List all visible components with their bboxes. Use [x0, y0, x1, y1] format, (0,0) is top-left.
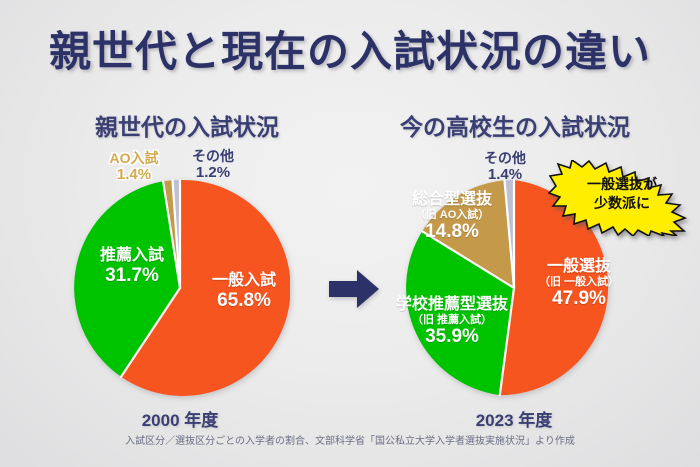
arrow-right-icon [327, 268, 381, 310]
right-panel-heading: 今の高校生の入試状況 [350, 108, 680, 142]
left-label-ao-pct: 1.4% [92, 166, 176, 183]
left-panel-heading: 親世代の入試状況 [22, 108, 352, 142]
left-label-ao-name: AO入試 [92, 150, 176, 166]
starburst-badge [548, 160, 696, 236]
source-footnote: 入試区分／選抜区分ごとの入学者の割合、文部科学省「国公私立大学入学者選抜実施状況… [0, 432, 700, 447]
right-label-other: その他 1.4% [470, 150, 540, 183]
left-label-ao: AO入試 1.4% [92, 150, 176, 183]
left-label-other: その他 1.2% [178, 148, 248, 181]
right-label-other-pct: 1.4% [470, 166, 540, 183]
left-pie-chart [70, 178, 290, 398]
infographic-canvas: 親世代と現在の入試状況の違い 親世代の入試状況 [0, 0, 700, 467]
left-label-other-pct: 1.2% [178, 164, 248, 181]
right-year-caption: 2023 年度 [384, 406, 644, 431]
left-pie-graphic [70, 178, 290, 398]
right-label-other-name: その他 [470, 150, 540, 166]
left-label-other-name: その他 [178, 148, 248, 164]
page-title: 親世代と現在の入試状況の違い [0, 18, 700, 79]
left-year-caption: 2000 年度 [50, 406, 310, 431]
